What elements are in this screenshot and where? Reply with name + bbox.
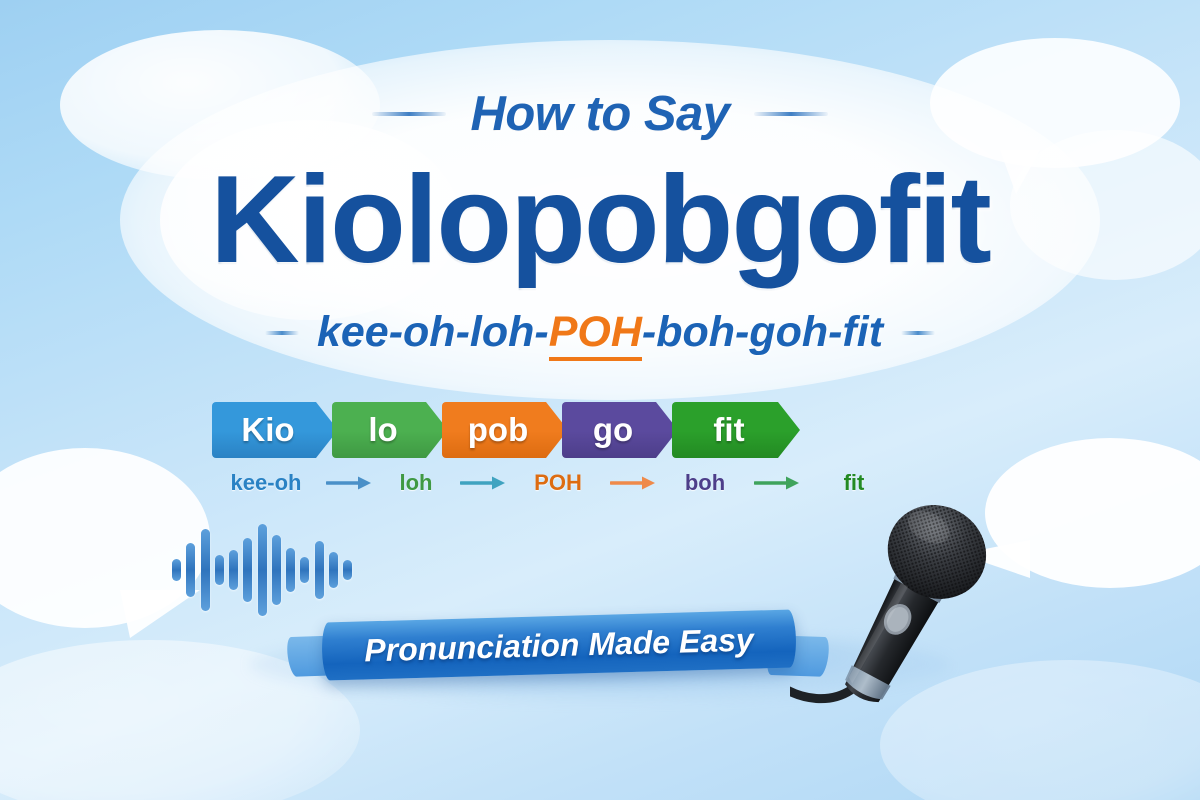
- syllable-sound-pob: POH: [512, 470, 604, 496]
- banner-text: Pronunciation Made Easy: [321, 609, 796, 680]
- waveform-bar: [272, 535, 281, 605]
- syllable-sound-lo: loh: [378, 470, 454, 496]
- syllable-chip-kio[interactable]: Kio: [212, 402, 338, 458]
- phonetic-row: kee-oh-loh-POH-boh-goh-fit: [0, 308, 1200, 357]
- waveform-bar: [300, 557, 309, 583]
- waveform-bar: [329, 552, 338, 588]
- arrow-right-icon: [604, 475, 662, 491]
- syllable-chip-label: lo: [368, 411, 397, 449]
- banner-ribbon: Pronunciation Made Easy: [288, 606, 828, 688]
- syllable-chip-label: fit: [713, 411, 744, 449]
- poster-canvas: How to Say Kiolopobgofit kee-oh-loh-POH-…: [0, 0, 1200, 800]
- syllable-sound-go: boh: [662, 470, 748, 496]
- syllable-chip-label: go: [593, 411, 633, 449]
- page-title: Kiolopobgofit: [0, 155, 1200, 285]
- waveform-bar: [201, 529, 210, 611]
- eyebrow-row: How to Say: [0, 86, 1200, 142]
- waveform-bar: [343, 560, 352, 580]
- syllable-chip-lo[interactable]: lo: [332, 402, 448, 458]
- waveform-bar: [172, 559, 181, 581]
- eyebrow-rule-right: [754, 112, 828, 116]
- syllable-chip-label: Kio: [241, 411, 294, 449]
- syllable-chip-fit[interactable]: fit: [672, 402, 800, 458]
- syllable-chip-go[interactable]: go: [562, 402, 678, 458]
- waveform-bar: [229, 550, 238, 590]
- phonetic-rule-left: [265, 331, 299, 335]
- phonetic-rule-right: [901, 331, 935, 335]
- phonetic-text: kee-oh-loh-POH-boh-goh-fit: [317, 308, 883, 357]
- microphone-icon: [790, 492, 1020, 732]
- arrow-right-icon: [748, 475, 806, 491]
- phonetic-prefix: kee-oh-loh-: [317, 308, 549, 356]
- waveform-bar: [315, 541, 324, 599]
- waveform-bar: [186, 543, 195, 597]
- syllable-chip-pob[interactable]: pob: [442, 402, 568, 458]
- eyebrow-rule-left: [372, 112, 446, 116]
- waveform-bar: [286, 548, 295, 592]
- syllable-chip-label: pob: [468, 411, 528, 449]
- arrow-right-icon: [320, 475, 378, 491]
- waveform-bar: [215, 555, 224, 585]
- phonetic-stressed-syllable: POH: [549, 308, 642, 361]
- arrow-right-icon: [454, 475, 512, 491]
- phonetic-suffix: -boh-goh-fit: [642, 308, 883, 356]
- eyebrow-text: How to Say: [470, 86, 729, 142]
- waveform-bar: [243, 538, 252, 602]
- syllable-chevron-strip: Kiolopobgofit: [212, 402, 794, 458]
- waveform-bar: [258, 524, 267, 616]
- syllable-sound-kio: kee-oh: [212, 470, 320, 496]
